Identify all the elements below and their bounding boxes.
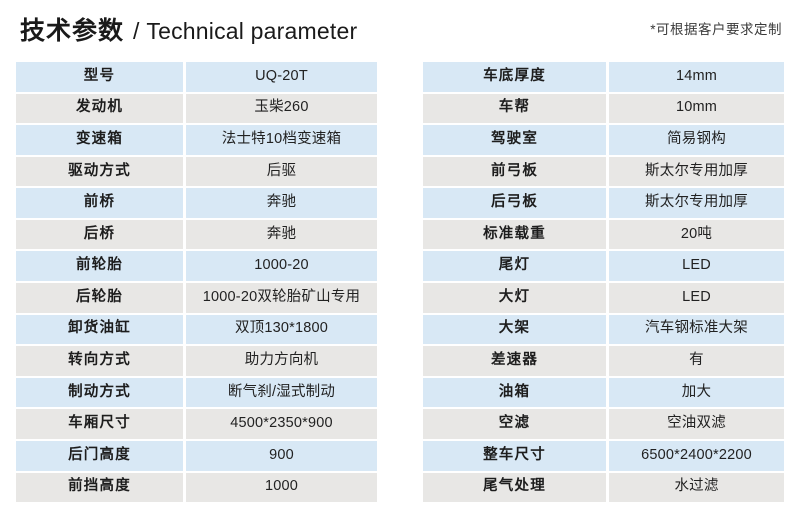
spec-value: 斯太尔专用加厚 [609, 188, 784, 218]
table-row: 驱动方式后驱 [16, 157, 377, 187]
spec-value: 水过滤 [609, 473, 784, 503]
spec-label: 型号 [16, 62, 183, 92]
spec-label: 车底厚度 [423, 62, 606, 92]
spec-value: 奔驰 [186, 220, 377, 250]
spec-value: 空油双滤 [609, 409, 784, 439]
spec-value: 14mm [609, 62, 784, 92]
table-row: 后门高度900 [16, 441, 377, 471]
spec-label: 尾灯 [423, 251, 606, 281]
spec-value: 6500*2400*2200 [609, 441, 784, 471]
spec-label: 转向方式 [16, 346, 183, 376]
table-row: 前桥奔驰 [16, 188, 377, 218]
spec-table-left: 型号UQ-20T发动机玉柴260变速箱法士特10档变速箱驱动方式后驱前桥奔驰后桥… [16, 62, 377, 502]
customization-note: *可根据客户要求定制 [650, 18, 782, 40]
table-row: 车帮10mm [423, 94, 784, 124]
table-row: 大架汽车钢标准大架 [423, 315, 784, 345]
spec-value: 汽车钢标准大架 [609, 315, 784, 345]
spec-label: 驾驶室 [423, 125, 606, 155]
spec-label: 前轮胎 [16, 251, 183, 281]
table-row: 型号UQ-20T [16, 62, 377, 92]
spec-label: 后轮胎 [16, 283, 183, 313]
page-title-en: Technical parameter [146, 18, 357, 45]
spec-label: 尾气处理 [423, 473, 606, 503]
spec-label: 整车尺寸 [423, 441, 606, 471]
page-title: 技术参数 / Technical parameter [20, 11, 357, 47]
table-row: 差速器有 [423, 346, 784, 376]
table-row: 整车尺寸6500*2400*2200 [423, 441, 784, 471]
spec-label: 驱动方式 [16, 157, 183, 187]
spec-value: 1000-20双轮胎矿山专用 [186, 283, 377, 313]
spec-value: 简易钢构 [609, 125, 784, 155]
table-row: 油箱加大 [423, 378, 784, 408]
spec-label: 车帮 [423, 94, 606, 124]
spec-label: 大架 [423, 315, 606, 345]
spec-value: UQ-20T [186, 62, 377, 92]
table-row: 后桥奔驰 [16, 220, 377, 250]
table-row: 空滤空油双滤 [423, 409, 784, 439]
spec-value: 加大 [609, 378, 784, 408]
table-row: 车底厚度14mm [423, 62, 784, 92]
spec-label: 油箱 [423, 378, 606, 408]
spec-value: 奔驰 [186, 188, 377, 218]
table-row: 尾气处理水过滤 [423, 473, 784, 503]
spec-value: 10mm [609, 94, 784, 124]
spec-value: 有 [609, 346, 784, 376]
table-row: 车厢尺寸4500*2350*900 [16, 409, 377, 439]
spec-label: 发动机 [16, 94, 183, 124]
spec-value: 4500*2350*900 [186, 409, 377, 439]
spec-value: 1000-20 [186, 251, 377, 281]
spec-label: 差速器 [423, 346, 606, 376]
table-row: 前弓板斯太尔专用加厚 [423, 157, 784, 187]
spec-label: 后弓板 [423, 188, 606, 218]
table-row: 大灯LED [423, 283, 784, 313]
spec-label: 空滤 [423, 409, 606, 439]
spec-label: 后门高度 [16, 441, 183, 471]
spec-value: 助力方向机 [186, 346, 377, 376]
spec-value: 后驱 [186, 157, 377, 187]
spec-label: 变速箱 [16, 125, 183, 155]
spec-label: 后桥 [16, 220, 183, 250]
table-row: 变速箱法士特10档变速箱 [16, 125, 377, 155]
spec-label: 前桥 [16, 188, 183, 218]
page-header: 技术参数 / Technical parameter *可根据客户要求定制 [0, 0, 800, 58]
spec-label: 大灯 [423, 283, 606, 313]
table-row: 前轮胎1000-20 [16, 251, 377, 281]
spec-label: 前挡高度 [16, 473, 183, 503]
table-row: 前挡高度1000 [16, 473, 377, 503]
spec-value: 20吨 [609, 220, 784, 250]
spec-value: 斯太尔专用加厚 [609, 157, 784, 187]
page-title-separator: / [133, 18, 139, 45]
table-row: 转向方式助力方向机 [16, 346, 377, 376]
spec-table-right: 车底厚度14mm车帮10mm驾驶室简易钢构前弓板斯太尔专用加厚后弓板斯太尔专用加… [423, 62, 784, 502]
spec-label: 车厢尺寸 [16, 409, 183, 439]
spec-value: LED [609, 283, 784, 313]
spec-value: 900 [186, 441, 377, 471]
table-row: 尾灯LED [423, 251, 784, 281]
table-row: 后轮胎1000-20双轮胎矿山专用 [16, 283, 377, 313]
spec-value: LED [609, 251, 784, 281]
table-row: 卸货油缸双顶130*1800 [16, 315, 377, 345]
table-row: 后弓板斯太尔专用加厚 [423, 188, 784, 218]
spec-value: 双顶130*1800 [186, 315, 377, 345]
spec-value: 1000 [186, 473, 377, 503]
spec-value: 法士特10档变速箱 [186, 125, 377, 155]
table-row: 标准载重20吨 [423, 220, 784, 250]
table-row: 制动方式断气刹/湿式制动 [16, 378, 377, 408]
table-row: 驾驶室简易钢构 [423, 125, 784, 155]
spec-label: 卸货油缸 [16, 315, 183, 345]
spec-label: 制动方式 [16, 378, 183, 408]
spec-label: 前弓板 [423, 157, 606, 187]
page-title-cn: 技术参数 [20, 11, 124, 47]
spec-value: 玉柴260 [186, 94, 377, 124]
spec-tables-container: 型号UQ-20T发动机玉柴260变速箱法士特10档变速箱驱动方式后驱前桥奔驰后桥… [16, 62, 784, 502]
spec-label: 标准载重 [423, 220, 606, 250]
spec-value: 断气刹/湿式制动 [186, 378, 377, 408]
table-row: 发动机玉柴260 [16, 94, 377, 124]
